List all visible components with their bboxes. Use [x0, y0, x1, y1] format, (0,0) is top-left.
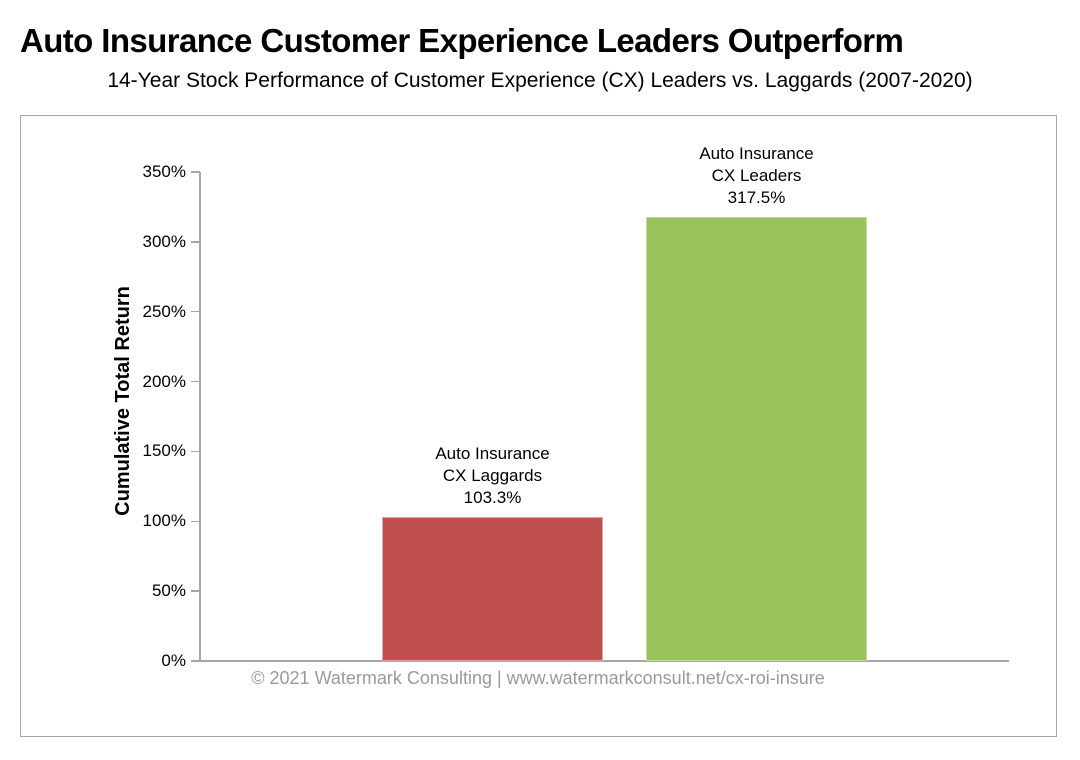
bar-label-line: 317.5%: [566, 187, 947, 209]
bar-label-laggards: Auto InsuranceCX Laggards103.3%: [302, 443, 683, 509]
y-axis-tick-label: 200%: [81, 373, 186, 390]
y-axis-tick-label-text: 50%: [116, 582, 186, 599]
bar-label-line: 103.3%: [302, 487, 683, 509]
y-axis-tick-label: 250%: [81, 303, 186, 320]
bar-label-leaders: Auto InsuranceCX Leaders317.5%: [566, 143, 947, 209]
y-axis-tick-label-text: 100%: [116, 512, 186, 529]
y-axis-tick-label-text: 0%: [116, 652, 186, 669]
bar-label-line: CX Laggards: [302, 465, 683, 487]
y-axis-tick-label: 100%: [81, 512, 186, 529]
y-axis-tick-label: 300%: [81, 233, 186, 250]
chart-footer: © 2021 Watermark Consulting | www.waterm…: [21, 668, 1055, 689]
page-subtitle: 14-Year Stock Performance of Customer Ex…: [20, 68, 1060, 94]
bar-rect-leaders[interactable]: [646, 217, 867, 661]
plot-area: Auto InsuranceCX Laggards103.3%Auto Insu…: [199, 172, 1009, 661]
bar-label-line: Auto Insurance: [302, 443, 683, 465]
bar-label-line: Auto Insurance: [566, 143, 947, 165]
y-axis-tick-label: 150%: [81, 442, 186, 459]
chart-frame: Cumulative Total Return 350%300%250%200%…: [20, 115, 1057, 737]
bar-rect-laggards[interactable]: [382, 517, 603, 661]
bar-leaders[interactable]: Auto InsuranceCX Leaders317.5%: [646, 172, 867, 661]
y-axis-tick-label-text: 150%: [116, 442, 186, 459]
y-axis-title: Cumulative Total Return: [112, 251, 138, 551]
bar-laggards[interactable]: Auto InsuranceCX Laggards103.3%: [382, 172, 603, 661]
bar-label-line: CX Leaders: [566, 165, 947, 187]
y-axis-tick-label-text: 250%: [116, 303, 186, 320]
y-axis-tick-label-text: 350%: [116, 163, 186, 180]
y-axis-tick-label: 0%: [81, 652, 186, 669]
y-axis-tick-label: 50%: [81, 582, 186, 599]
y-axis-tick-label: 350%: [81, 163, 186, 180]
page-title: Auto Insurance Customer Experience Leade…: [20, 22, 1060, 60]
y-axis-tick-label-text: 300%: [116, 233, 186, 250]
y-axis-tick-label-text: 200%: [116, 373, 186, 390]
